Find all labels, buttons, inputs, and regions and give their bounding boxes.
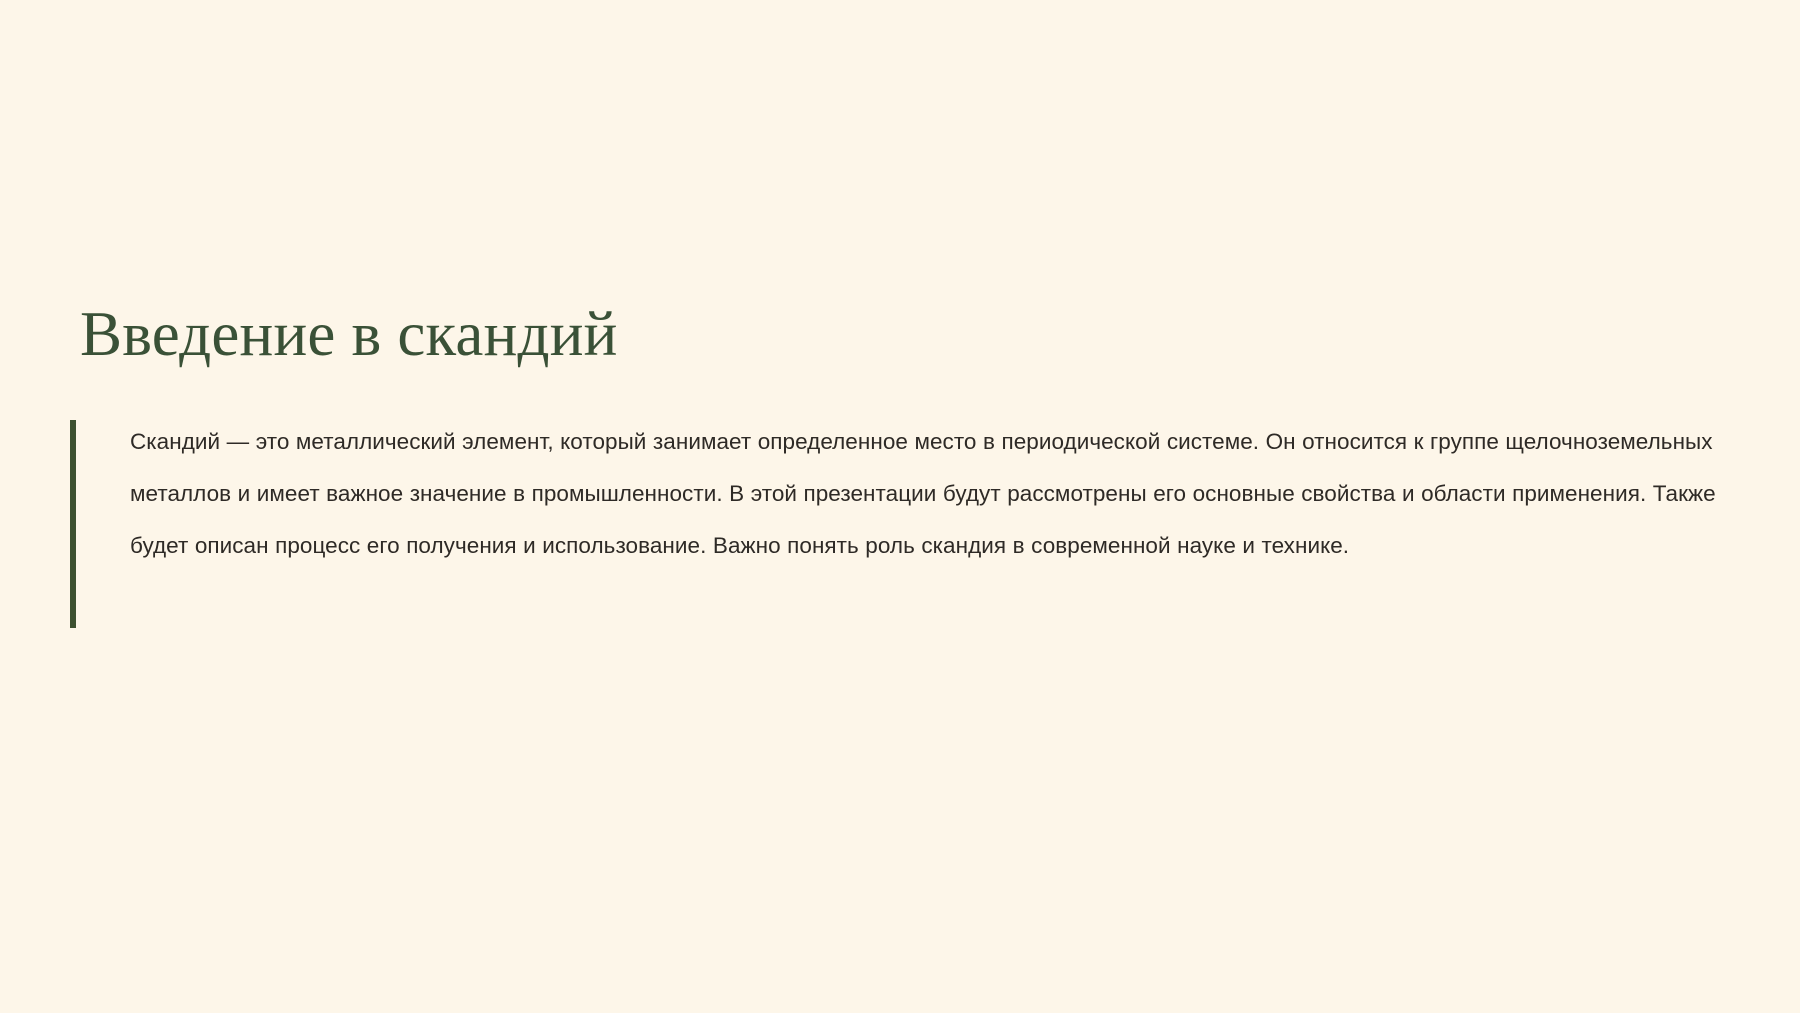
body-paragraph: Скандий — это металлический элемент, кот… bbox=[130, 416, 1722, 572]
page-title: Введение в скандий bbox=[80, 300, 1730, 368]
body-text-container: Скандий — это металлический элемент, кот… bbox=[70, 416, 1730, 572]
slide-canvas: Введение в скандий Скандий — это металли… bbox=[0, 0, 1800, 1013]
left-accent-bar bbox=[70, 420, 76, 628]
slide-content-block: Введение в скандий Скандий — это металли… bbox=[70, 300, 1730, 572]
